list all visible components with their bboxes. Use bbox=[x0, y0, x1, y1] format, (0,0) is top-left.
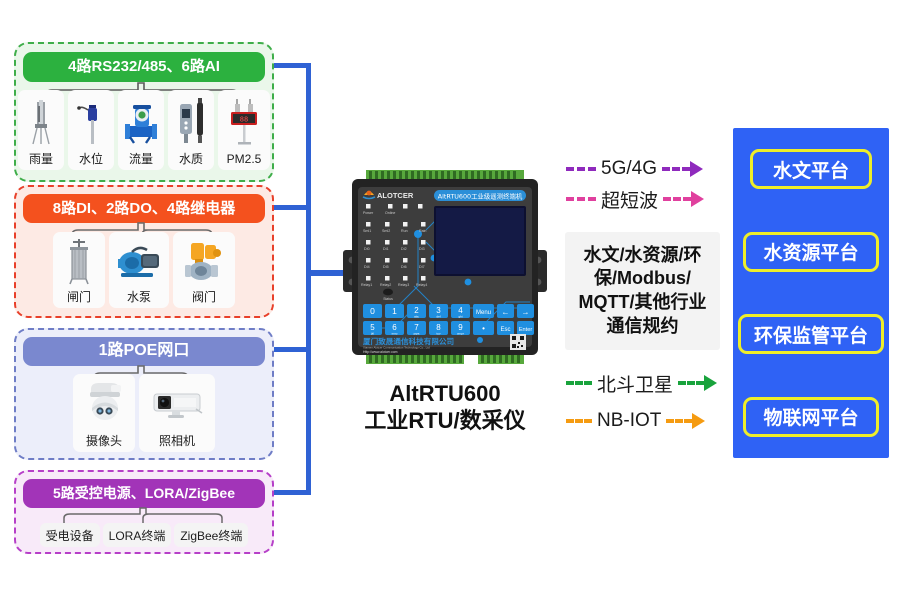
platform-hydrology[interactable]: 水文平台 bbox=[750, 149, 872, 189]
group-power-lora-items: 受电设备 LORA终端 ZigBee终端 bbox=[22, 521, 266, 547]
protocol-uhf-dash-right bbox=[663, 197, 691, 201]
svg-text:def: def bbox=[436, 315, 440, 319]
protocol-nbiot: NB-IOT bbox=[566, 410, 736, 432]
svg-text:Rain: Rain bbox=[419, 229, 426, 233]
group-serial-ai-items: 雨量 水位 bbox=[18, 88, 270, 170]
svg-text:mno: mno bbox=[392, 332, 398, 336]
item-rain-gauge-label: 雨量 bbox=[26, 152, 56, 168]
svg-text:Power: Power bbox=[363, 211, 374, 215]
protocol-nbiot-dash-right bbox=[666, 419, 692, 423]
item-electric-valve-label: 阀门 bbox=[189, 290, 219, 306]
rtu-device-illustration: ALOTCER AltRTU600工业级遥测终端机 PowerOn bbox=[330, 168, 560, 368]
protocol-standards-line1: 水文/水资源/环 bbox=[579, 244, 707, 268]
svg-text:88: 88 bbox=[240, 115, 248, 123]
protocol-nbiot-dash-left bbox=[566, 419, 592, 423]
svg-text:Enter: Enter bbox=[519, 327, 533, 333]
item-lora-terminal-label: LORA终端 bbox=[109, 527, 166, 544]
item-zigbee-terminal-label: ZigBee终端 bbox=[180, 527, 242, 544]
svg-text:•: • bbox=[482, 324, 485, 333]
svg-text:DI3: DI3 bbox=[419, 247, 425, 251]
svg-text:Relay2: Relay2 bbox=[380, 283, 391, 287]
svg-text:wxyz: wxyz bbox=[457, 332, 464, 336]
svg-text:Http://www.alotcer.com: Http://www.alotcer.com bbox=[363, 350, 398, 354]
svg-text:DI5: DI5 bbox=[383, 265, 389, 269]
protocol-nbiot-arrow-icon bbox=[692, 413, 705, 429]
rtu-model-line1: AltRTU600 bbox=[340, 381, 550, 408]
group-di-do-relay-header[interactable]: 8路DI、2路DO、4路继电器 bbox=[23, 194, 265, 223]
svg-text:DI6: DI6 bbox=[401, 265, 407, 269]
svg-text:厦门致晟通信科技有限公司: 厦门致晟通信科技有限公司 bbox=[363, 336, 454, 346]
svg-text:Relay1: Relay1 bbox=[361, 283, 372, 287]
group-power-lora-header-label: 5路受控电源、LORA/ZigBee bbox=[53, 486, 235, 501]
item-lora-terminal[interactable]: LORA终端 bbox=[103, 523, 172, 547]
svg-text:DI1: DI1 bbox=[383, 247, 389, 251]
diagram-canvas: 4路RS232/485、6路AI 雨量 bbox=[0, 0, 900, 600]
svg-text:Run: Run bbox=[401, 229, 408, 233]
item-water-pump[interactable]: 水泵 bbox=[109, 232, 169, 308]
protocol-uhf-dash-left bbox=[566, 197, 596, 201]
electric-valve-icon bbox=[173, 232, 235, 290]
svg-text:DI2: DI2 bbox=[401, 247, 407, 251]
rain-gauge-icon bbox=[18, 90, 64, 152]
protocol-uhf: 超短波 bbox=[566, 188, 726, 210]
platform-hydrology-label: 水文平台 bbox=[773, 156, 849, 183]
svg-text:pqrs: pqrs bbox=[414, 332, 420, 336]
pm25-monitor-icon: 88 bbox=[218, 90, 270, 152]
svg-text:Xiamen Alotcer Communication T: Xiamen Alotcer Communication Technology … bbox=[363, 346, 430, 350]
svg-text:AltRTU600工业级遥测终端机: AltRTU600工业级遥测终端机 bbox=[438, 192, 523, 201]
svg-text:Sml2: Sml2 bbox=[382, 229, 390, 233]
group-poe-header-label: 1路POE网口 bbox=[99, 343, 190, 360]
protocol-uhf-arrow-icon bbox=[691, 191, 704, 207]
rtu-model-line2: 工业RTU/数采仪 bbox=[340, 408, 550, 435]
group-poe-header[interactable]: 1路POE网口 bbox=[23, 337, 265, 366]
protocol-5g4g-dash-left bbox=[566, 167, 596, 171]
platform-panel: 水文平台 水资源平台 环保监管平台 物联网平台 bbox=[733, 128, 889, 458]
protocol-5g4g: 5G/4G bbox=[566, 158, 726, 180]
group-di-do-relay-header-label: 8路DI、2路DO、4路继电器 bbox=[53, 201, 236, 217]
platform-water-resources-label: 水资源平台 bbox=[763, 238, 858, 265]
water-quality-probe-icon bbox=[168, 90, 214, 152]
svg-text:abc: abc bbox=[414, 315, 419, 319]
platform-environmental[interactable]: 环保监管平台 bbox=[738, 314, 884, 354]
group-serial-ai-header[interactable]: 4路RS232/485、6路AI bbox=[23, 52, 265, 82]
svg-text:Relay3: Relay3 bbox=[398, 283, 409, 287]
protocol-standards-line3: MQTT/其他行业 bbox=[579, 291, 707, 315]
protocol-standards-line2: 保/Modbus/ bbox=[579, 267, 707, 291]
protocol-beidou-dash-right bbox=[678, 381, 704, 385]
item-electric-valve[interactable]: 阀门 bbox=[173, 232, 235, 308]
platform-iot[interactable]: 物联网平台 bbox=[743, 397, 879, 437]
platform-water-resources[interactable]: 水资源平台 bbox=[743, 232, 879, 272]
protocol-standards-box: 水文/水资源/环 保/Modbus/ MQTT/其他行业 通信规约 bbox=[565, 232, 720, 350]
item-water-quality-label: 水质 bbox=[176, 152, 206, 168]
svg-text:jkl: jkl bbox=[370, 332, 374, 336]
item-pm25[interactable]: 88 PM2.5 bbox=[218, 90, 270, 170]
dome-camera-icon bbox=[73, 374, 135, 434]
svg-text:Online: Online bbox=[385, 211, 395, 215]
item-bullet-camera[interactable]: 照相机 bbox=[139, 374, 215, 452]
sluice-gate-icon bbox=[53, 232, 105, 290]
protocol-5g4g-label: 5G/4G bbox=[596, 158, 662, 180]
item-flow-meter-label: 流量 bbox=[126, 152, 156, 168]
svg-text:Relay4: Relay4 bbox=[416, 283, 427, 287]
platform-environmental-label: 环保监管平台 bbox=[754, 321, 868, 348]
item-water-quality[interactable]: 水质 bbox=[168, 90, 214, 170]
platform-iot-label: 物联网平台 bbox=[763, 403, 858, 430]
protocol-nbiot-label: NB-IOT bbox=[592, 410, 666, 432]
svg-text:ghi: ghi bbox=[458, 315, 462, 319]
bus-trunk-vertical bbox=[306, 63, 311, 495]
item-pm25-label: PM2.5 bbox=[224, 152, 265, 168]
svg-text:1: 1 bbox=[392, 306, 397, 316]
bullet-camera-icon bbox=[139, 374, 215, 434]
item-dome-camera-label: 摄像头 bbox=[83, 434, 125, 450]
group-di-do-relay-items: 闸门 水泵 bbox=[44, 230, 244, 308]
svg-text:Status: Status bbox=[383, 297, 393, 301]
flow-meter-icon bbox=[118, 90, 164, 152]
protocol-beidou-label: 北斗卫星 bbox=[592, 370, 678, 397]
item-dome-camera[interactable]: 摄像头 bbox=[73, 374, 135, 452]
item-water-pump-label: 水泵 bbox=[124, 290, 154, 306]
item-powered-device-label: 受电设备 bbox=[46, 527, 94, 544]
svg-text:Esc: Esc bbox=[500, 327, 510, 333]
svg-text:0: 0 bbox=[370, 306, 375, 316]
svg-text:←: ← bbox=[502, 308, 510, 317]
protocol-beidou: 北斗卫星 bbox=[566, 372, 736, 394]
item-flow-meter[interactable]: 流量 bbox=[118, 90, 164, 170]
protocol-beidou-arrow-icon bbox=[704, 375, 717, 391]
svg-text:DI0: DI0 bbox=[364, 247, 370, 251]
svg-text:DI4: DI4 bbox=[364, 265, 370, 269]
svg-text:DI7: DI7 bbox=[419, 265, 425, 269]
protocol-uhf-label: 超短波 bbox=[596, 186, 663, 213]
group-serial-ai-header-label: 4路RS232/485、6路AI bbox=[68, 59, 220, 75]
group-poe-items: 摄像头 照相机 bbox=[64, 372, 224, 452]
water-level-sensor-icon bbox=[68, 90, 114, 152]
item-water-level[interactable]: 水位 bbox=[68, 90, 114, 170]
item-water-level-label: 水位 bbox=[76, 152, 106, 168]
rtu-caption: AltRTU600 工业RTU/数采仪 bbox=[340, 381, 550, 435]
svg-text:Sml1: Sml1 bbox=[363, 229, 371, 233]
svg-text:ALOTCER: ALOTCER bbox=[377, 191, 414, 200]
protocol-standards-line4: 通信规约 bbox=[579, 315, 707, 339]
protocol-beidou-dash-left bbox=[566, 381, 592, 385]
group-power-lora-header[interactable]: 5路受控电源、LORA/ZigBee bbox=[23, 479, 265, 508]
item-zigbee-terminal[interactable]: ZigBee终端 bbox=[174, 523, 248, 547]
protocol-5g4g-arrow-icon bbox=[690, 161, 703, 177]
protocol-5g4g-dash-right bbox=[662, 167, 690, 171]
svg-text:Menu: Menu bbox=[476, 310, 491, 316]
svg-text:→: → bbox=[522, 308, 530, 317]
rtu-device[interactable]: ALOTCER AltRTU600工业级遥测终端机 PowerOn bbox=[330, 168, 560, 368]
item-rain-gauge[interactable]: 雨量 bbox=[18, 90, 64, 170]
item-powered-device[interactable]: 受电设备 bbox=[40, 523, 100, 547]
item-sluice-gate-label: 闸门 bbox=[64, 290, 94, 306]
svg-text:tuv: tuv bbox=[436, 332, 441, 336]
item-bullet-camera-label: 照相机 bbox=[156, 434, 198, 450]
item-sluice-gate[interactable]: 闸门 bbox=[53, 232, 105, 308]
water-pump-icon bbox=[109, 232, 169, 290]
